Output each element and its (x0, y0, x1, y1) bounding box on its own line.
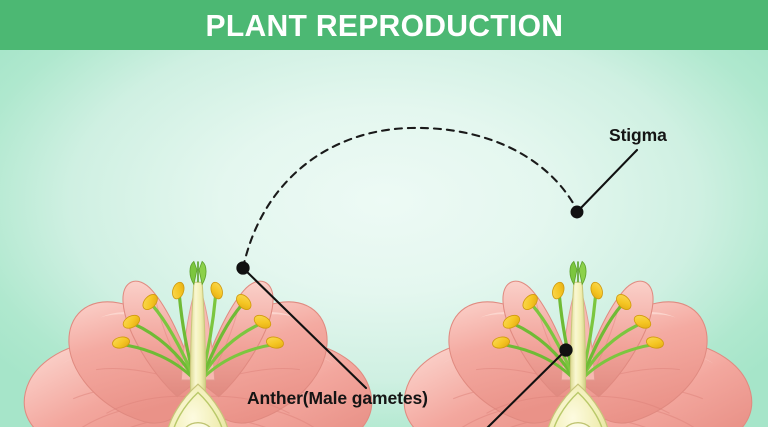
header-bar: PLANT REPRODUCTION (0, 0, 768, 50)
right-flower (404, 261, 751, 427)
label-anther: Anther(Male gametes) (247, 388, 428, 409)
plant-reproduction-infographic: PLANT REPRODUCTION (0, 0, 768, 427)
pollination-path (243, 128, 578, 268)
flower-diagram-svg (0, 50, 768, 427)
anther-pointer-dot (237, 262, 248, 273)
page-title: PLANT REPRODUCTION (205, 10, 563, 41)
label-stigma: Stigma (609, 125, 667, 146)
stigma-pointer-dot (572, 207, 583, 218)
diagram-canvas: Stigma Anther(Male gametes) Ovule(Female… (0, 50, 768, 427)
ovule-pointer-dot (560, 344, 571, 355)
stigma-pointer-line (577, 150, 637, 212)
